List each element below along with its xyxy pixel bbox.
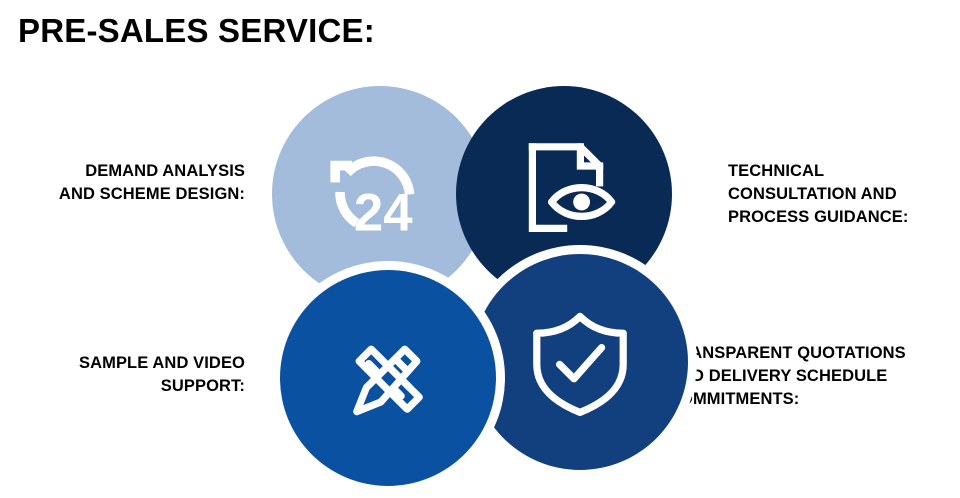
label-technical-consultation: TECHNICAL CONSULTATION AND PROCESS GUIDA… — [728, 160, 960, 228]
circle-sample-video-support[interactable] — [280, 270, 496, 486]
label-demand-analysis: DEMAND ANALYSIS AND SCHEME DESIGN: — [0, 160, 245, 206]
shield-check-icon — [520, 302, 640, 422]
pen-ruler-icon — [328, 318, 448, 438]
circle-cluster: 24 — [272, 86, 688, 486]
circle-transparent-quotations[interactable] — [472, 254, 688, 470]
clock-24-rotate-icon: 24 — [316, 132, 436, 252]
label-sample-video-support: SAMPLE AND VIDEO SUPPORT: — [0, 352, 245, 398]
pre-sales-service-infographic: PRE-SALES SERVICE: 24 — [0, 0, 960, 498]
svg-text:24: 24 — [354, 183, 413, 242]
label-transparent-quotations: TRANSPARENT QUOTATIONS AND DELIVERY SCHE… — [668, 342, 960, 410]
document-eye-icon — [506, 130, 626, 250]
page-title: PRE-SALES SERVICE: — [18, 12, 375, 50]
